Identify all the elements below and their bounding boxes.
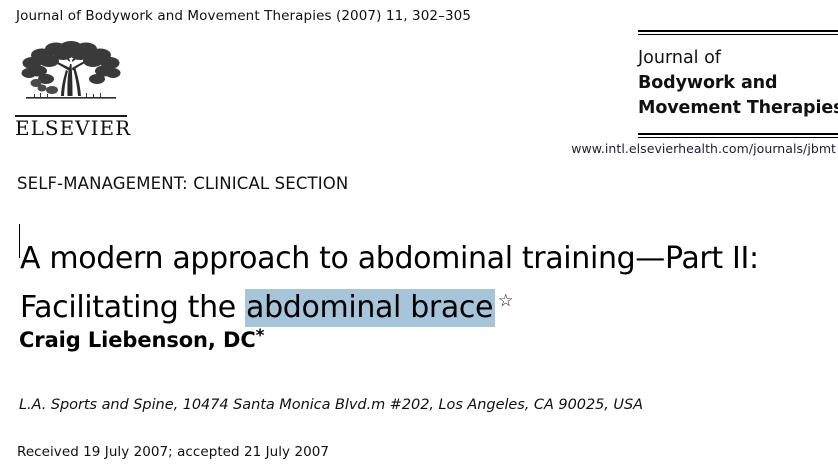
author-name: Craig Liebenson, DC	[19, 328, 256, 352]
author-line: Craig Liebenson, DC*	[19, 326, 264, 352]
article-first-page: Journal of Bodywork and Movement Therapi…	[0, 0, 838, 470]
author-affiliation: L.A. Sports and Spine, 10474 Santa Monic…	[19, 397, 643, 413]
title-line-2: Facilitating the abdominal brace☆	[20, 280, 838, 329]
masthead-bottom-rule	[638, 131, 838, 138]
running-head: Journal of Bodywork and Movement Therapi…	[16, 8, 471, 24]
selected-text-highlight[interactable]: abdominal brace	[245, 289, 495, 327]
journal-name-line-3: Movement Therapies	[638, 96, 838, 121]
masthead-top-rule	[638, 28, 838, 35]
title-line-2-prefix: Facilitating the	[20, 290, 245, 325]
corresponding-author-marker[interactable]: *	[256, 326, 265, 346]
journal-name-line-1: Journal of	[638, 46, 838, 71]
section-label: SELF-MANAGEMENT: CLINICAL SECTION	[17, 174, 348, 193]
title-line-1: A modern approach to abdominal training—…	[20, 238, 838, 280]
title-footnote-star-icon[interactable]: ☆	[498, 291, 513, 311]
journal-masthead: Journal of Bodywork and Movement Therapi…	[638, 28, 838, 121]
publisher-logo: ELSEVIER	[14, 38, 128, 139]
journal-url-link[interactable]: www.intl.elsevierhealth.com/journals/jbm…	[571, 141, 836, 156]
journal-name-line-2: Bodywork and	[638, 71, 838, 96]
article-history: Received 19 July 2007; accepted 21 July …	[17, 444, 329, 460]
publisher-wordmark: ELSEVIER	[14, 118, 128, 139]
journal-name: Journal of Bodywork and Movement Therapi…	[638, 46, 838, 121]
page-title: A modern approach to abdominal training—…	[20, 238, 838, 329]
elsevier-tree-icon	[14, 38, 128, 114]
